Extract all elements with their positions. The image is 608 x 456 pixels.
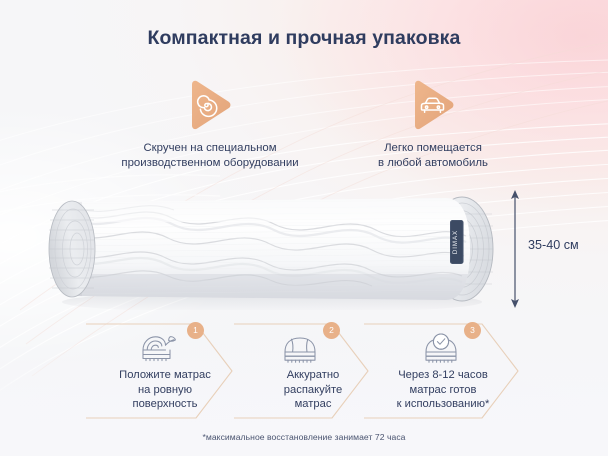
brand-tag: DIMAX (450, 220, 464, 264)
promo-banner: Компактная и прочная упаковка Скручен на… (0, 0, 608, 456)
dimension-indicator: 35-40 см (500, 188, 604, 310)
step-number-badge: 1 (187, 322, 204, 339)
footnote-text: *максимальное восстановление занимает 72… (0, 432, 608, 442)
svg-text:DIMAX: DIMAX (452, 230, 459, 254)
spiral-roll-icon (182, 78, 238, 134)
steps-row: 1 Положите матрас на ро (86, 322, 522, 420)
step-number-badge: 3 (464, 322, 481, 339)
dimension-label: 35-40 см (528, 238, 579, 252)
mattress-ready-check-icon (421, 330, 461, 364)
feature-label: Скручен на специальном производственном … (88, 141, 332, 171)
feature-item-car: Легко помещается в любой автомобиль (330, 78, 536, 171)
mattress-unpack-icon (280, 330, 320, 364)
step-label: Через 8-12 часов матрас готов к использо… (364, 368, 526, 412)
feature-item-rolled: Скручен на специальном производственном … (88, 78, 332, 171)
mattress-roll-on-surface-icon (139, 330, 179, 364)
car-icon (405, 78, 461, 134)
step-label: Положите матрас на ровную поверхность (86, 368, 256, 412)
rolled-mattress-image: DIMAX (42, 188, 512, 310)
step-number-badge: 2 (323, 322, 340, 339)
double-headed-vertical-arrow (508, 188, 522, 310)
step-card-3: 3 Через 8-12 часов матрас готов к ис (364, 322, 522, 420)
page-title: Компактная и прочная упаковка (0, 27, 608, 50)
step-card-1: 1 Положите матрас на ро (86, 322, 244, 420)
feature-label: Легко помещается в любой автомобиль (330, 141, 536, 171)
